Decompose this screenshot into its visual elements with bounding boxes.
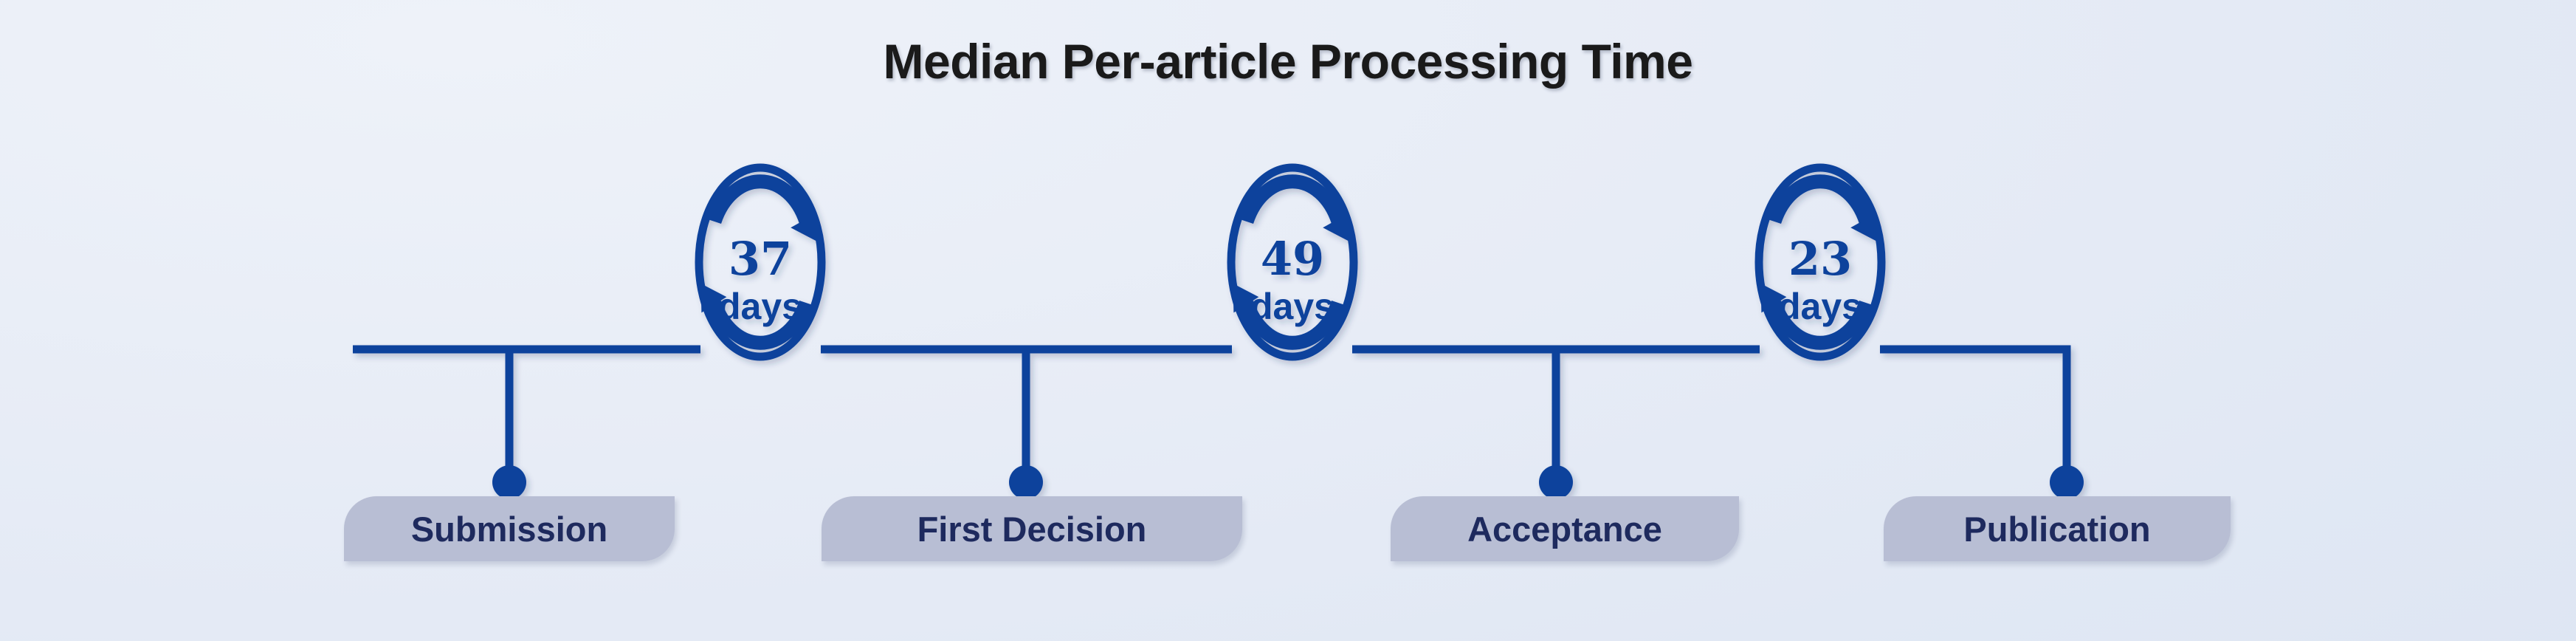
milestone-dot-publication <box>2050 465 2084 499</box>
duration-badge-1: 37 days <box>688 168 829 357</box>
badge-value-1: 37 <box>729 232 792 286</box>
duration-badge-2: 49 days <box>1220 168 1361 357</box>
milestone-dot-submission <box>492 465 526 499</box>
stage-label-text: Submission <box>411 509 607 549</box>
stage-label-acceptance[interactable]: Acceptance <box>1391 496 1739 561</box>
badge-value-3: 23 <box>1788 232 1852 286</box>
badge-unit-2: days <box>1250 286 1335 327</box>
stage-label-first-decision[interactable]: First Decision <box>822 496 1242 561</box>
infographic-canvas: Median Per-article Processing Time <box>0 0 2576 641</box>
milestone-dot-first-decision <box>1009 465 1043 499</box>
milestone-dot-acceptance <box>1539 465 1573 499</box>
badge-value-2: 49 <box>1261 232 1324 286</box>
stage-label-text: Publication <box>1963 509 2150 549</box>
stage-label-publication[interactable]: Publication <box>1884 496 2231 561</box>
stage-label-submission[interactable]: Submission <box>344 496 675 561</box>
timeline-segment-end <box>1880 349 2067 476</box>
badge-unit-3: days <box>1778 286 1862 327</box>
stage-label-text: First Decision <box>917 509 1147 549</box>
badge-unit-1: days <box>718 286 802 327</box>
stage-label-text: Acceptance <box>1467 509 1662 549</box>
duration-badge-3: 23 days <box>1748 168 1889 357</box>
